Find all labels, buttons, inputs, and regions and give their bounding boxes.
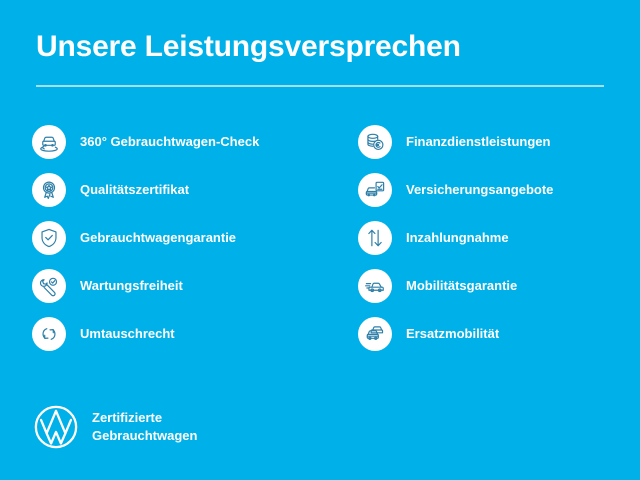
car-speed-icon bbox=[358, 269, 392, 303]
feature-label: Wartungsfreiheit bbox=[80, 278, 183, 294]
feature-item-umtauschrecht[interactable]: Umtauschrecht bbox=[32, 310, 330, 358]
features-columns: 360° Gebrauchtwagen-Check Qualitätszerti… bbox=[0, 118, 640, 358]
feature-item-wartungsfreiheit[interactable]: Wartungsfreiheit bbox=[32, 262, 330, 310]
quality-badge-icon bbox=[32, 173, 66, 207]
brand-lockup: Zertifizierte Gebrauchtwagen bbox=[33, 404, 197, 450]
feature-label: Mobilitätsgarantie bbox=[406, 278, 517, 294]
feature-item-mobilitaetsgarantie[interactable]: Mobilitätsgarantie bbox=[358, 262, 640, 310]
brand-line-1: Zertifizierte bbox=[92, 409, 197, 427]
vw-logo-icon bbox=[33, 404, 79, 450]
feature-item-inzahlungnahme[interactable]: Inzahlungnahme bbox=[358, 214, 640, 262]
shield-check-icon bbox=[32, 221, 66, 255]
features-column-left: 360° Gebrauchtwagen-Check Qualitätszerti… bbox=[0, 118, 330, 358]
brand-text: Zertifizierte Gebrauchtwagen bbox=[92, 409, 197, 444]
feature-label: Gebrauchtwagengarantie bbox=[80, 230, 236, 246]
feature-item-gebrauchtwagengarantie[interactable]: Gebrauchtwagengarantie bbox=[32, 214, 330, 262]
wrench-check-icon bbox=[32, 269, 66, 303]
feature-item-finanzdienstleistungen[interactable]: Finanzdienstleistungen bbox=[358, 118, 640, 166]
feature-label: Ersatzmobilität bbox=[406, 326, 499, 342]
car-360-check-icon bbox=[32, 125, 66, 159]
feature-item-qualitaetszertifikat[interactable]: Qualitätszertifikat bbox=[32, 166, 330, 214]
up-down-arrows-icon bbox=[358, 221, 392, 255]
promise-panel: Unsere Leistungsversprechen 360° Gebrauc… bbox=[0, 0, 640, 480]
feature-item-versicherungsangebote[interactable]: Versicherungsangebote bbox=[358, 166, 640, 214]
title-divider bbox=[36, 85, 604, 87]
car-document-check-icon bbox=[358, 173, 392, 207]
two-cars-icon bbox=[358, 317, 392, 351]
header: Unsere Leistungsversprechen bbox=[36, 30, 604, 63]
page-title: Unsere Leistungsversprechen bbox=[36, 30, 604, 63]
feature-label: Umtauschrecht bbox=[80, 326, 175, 342]
feature-label: Inzahlungnahme bbox=[406, 230, 509, 246]
brand-line-2: Gebrauchtwagen bbox=[92, 427, 197, 445]
feature-item-gebrauchtwagen-check[interactable]: 360° Gebrauchtwagen-Check bbox=[32, 118, 330, 166]
coins-euro-icon bbox=[358, 125, 392, 159]
feature-label: 360° Gebrauchtwagen-Check bbox=[80, 134, 259, 150]
feature-label: Qualitätszertifikat bbox=[80, 182, 189, 198]
feature-label: Finanzdienstleistungen bbox=[406, 134, 550, 150]
exchange-arrows-icon bbox=[32, 317, 66, 351]
feature-item-ersatzmobilitaet[interactable]: Ersatzmobilität bbox=[358, 310, 640, 358]
features-column-right: Finanzdienstleistungen Versicheru bbox=[330, 118, 640, 358]
feature-label: Versicherungsangebote bbox=[406, 182, 553, 198]
